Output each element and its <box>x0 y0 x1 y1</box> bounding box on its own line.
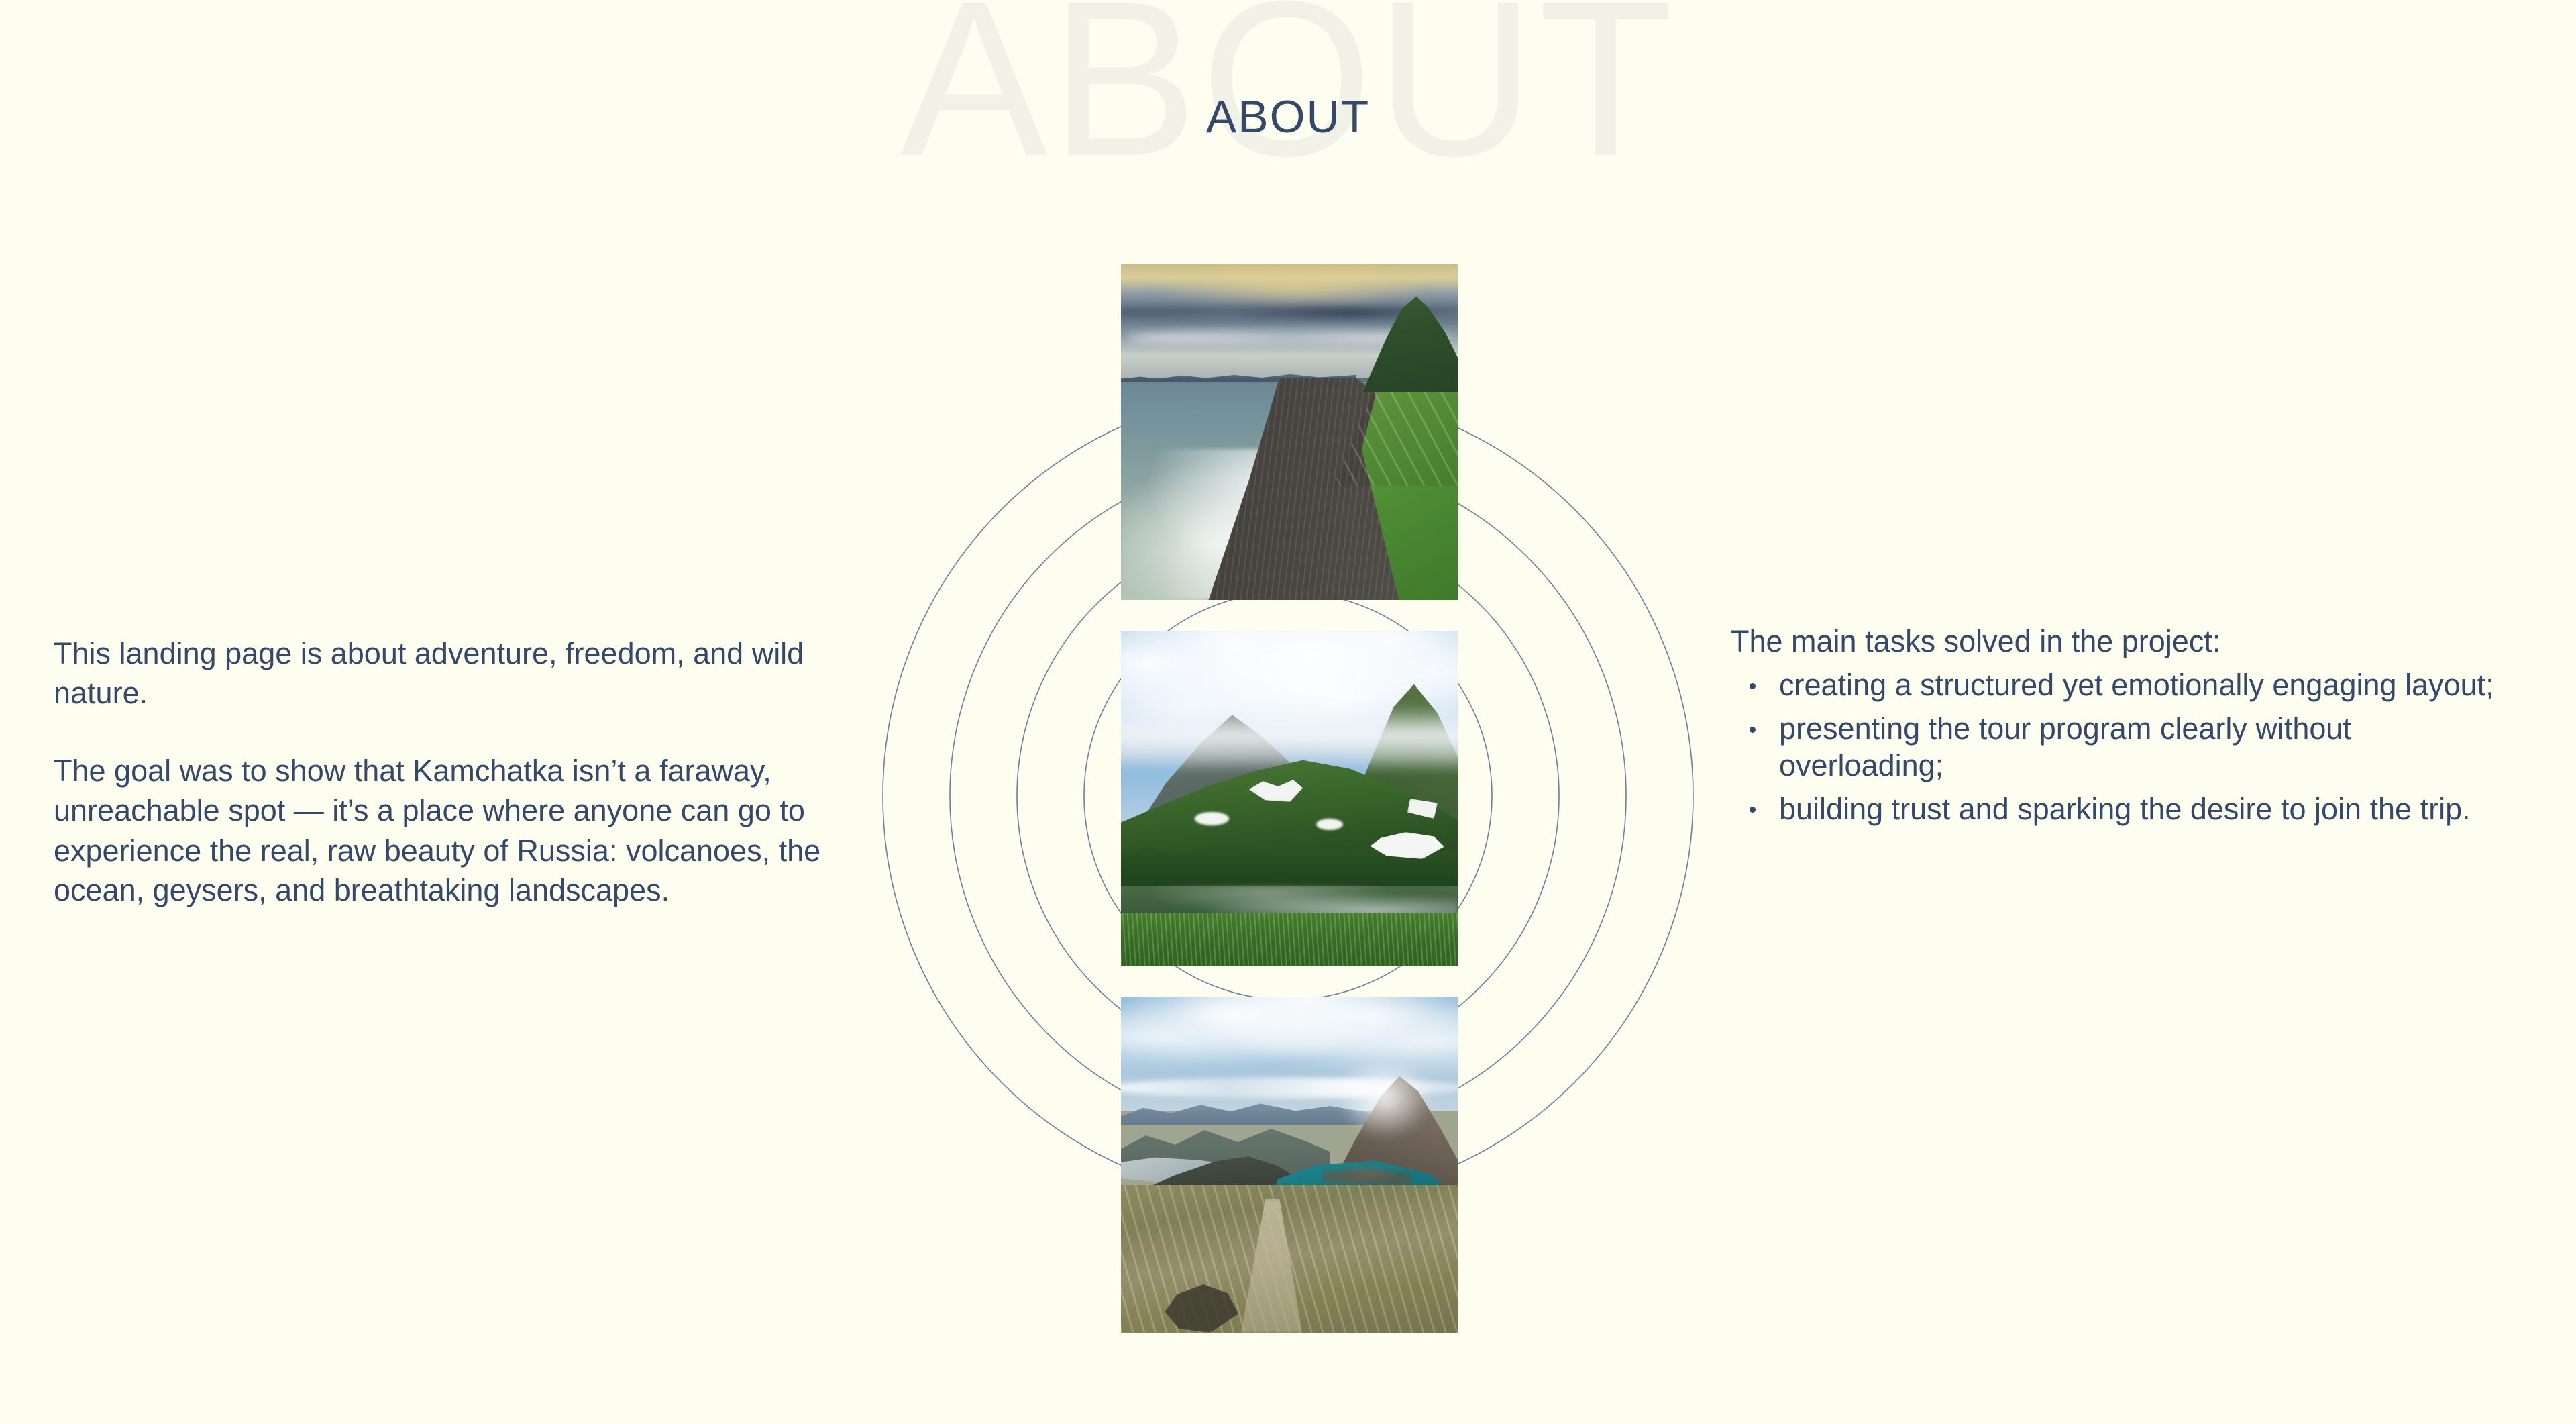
list-item-label: creating a structured yet emotionally en… <box>1779 668 2494 702</box>
photo-stack <box>1121 264 1458 1333</box>
page-header: ABOUT ABOUT <box>0 0 2576 228</box>
left-paragraph-2: The goal was to show that Kamchatka isn’… <box>54 751 859 911</box>
list-item-label: presenting the tour program clearly with… <box>1779 711 2351 782</box>
right-text-column: The main tasks solved in the project: cr… <box>1731 623 2522 828</box>
list-item: building trust and sparking the desire t… <box>1731 791 2522 828</box>
list-item: presenting the tour program clearly with… <box>1731 711 2522 784</box>
snow-patch <box>1316 819 1343 830</box>
snow-patch <box>1195 812 1228 825</box>
tasks-list: creating a structured yet emotionally en… <box>1731 667 2522 828</box>
page-title: ABOUT <box>0 94 2576 140</box>
sun-glow <box>1148 266 1417 305</box>
photo-green-mountains-lake <box>1121 631 1458 966</box>
mist-band <box>1121 705 1458 772</box>
bullet-dot-icon <box>1750 807 1756 813</box>
list-item: creating a structured yet emotionally en… <box>1731 667 2522 704</box>
steam-plume <box>1330 1064 1431 1145</box>
bullet-dot-icon <box>1750 683 1756 689</box>
left-text-column: This landing page is about adventure, fr… <box>54 633 859 910</box>
list-item-label: building trust and sparking the desire t… <box>1779 792 2471 826</box>
bullet-dot-icon <box>1750 727 1756 733</box>
photo-coastline-black-sand-beach <box>1121 264 1458 600</box>
left-paragraph-1: This landing page is about adventure, fr… <box>54 633 859 713</box>
photo-volcano-caldera-teal-lake <box>1121 997 1458 1333</box>
meadow-grass-texture <box>1121 913 1458 966</box>
tasks-lead-text: The main tasks solved in the project: <box>1731 623 2522 660</box>
